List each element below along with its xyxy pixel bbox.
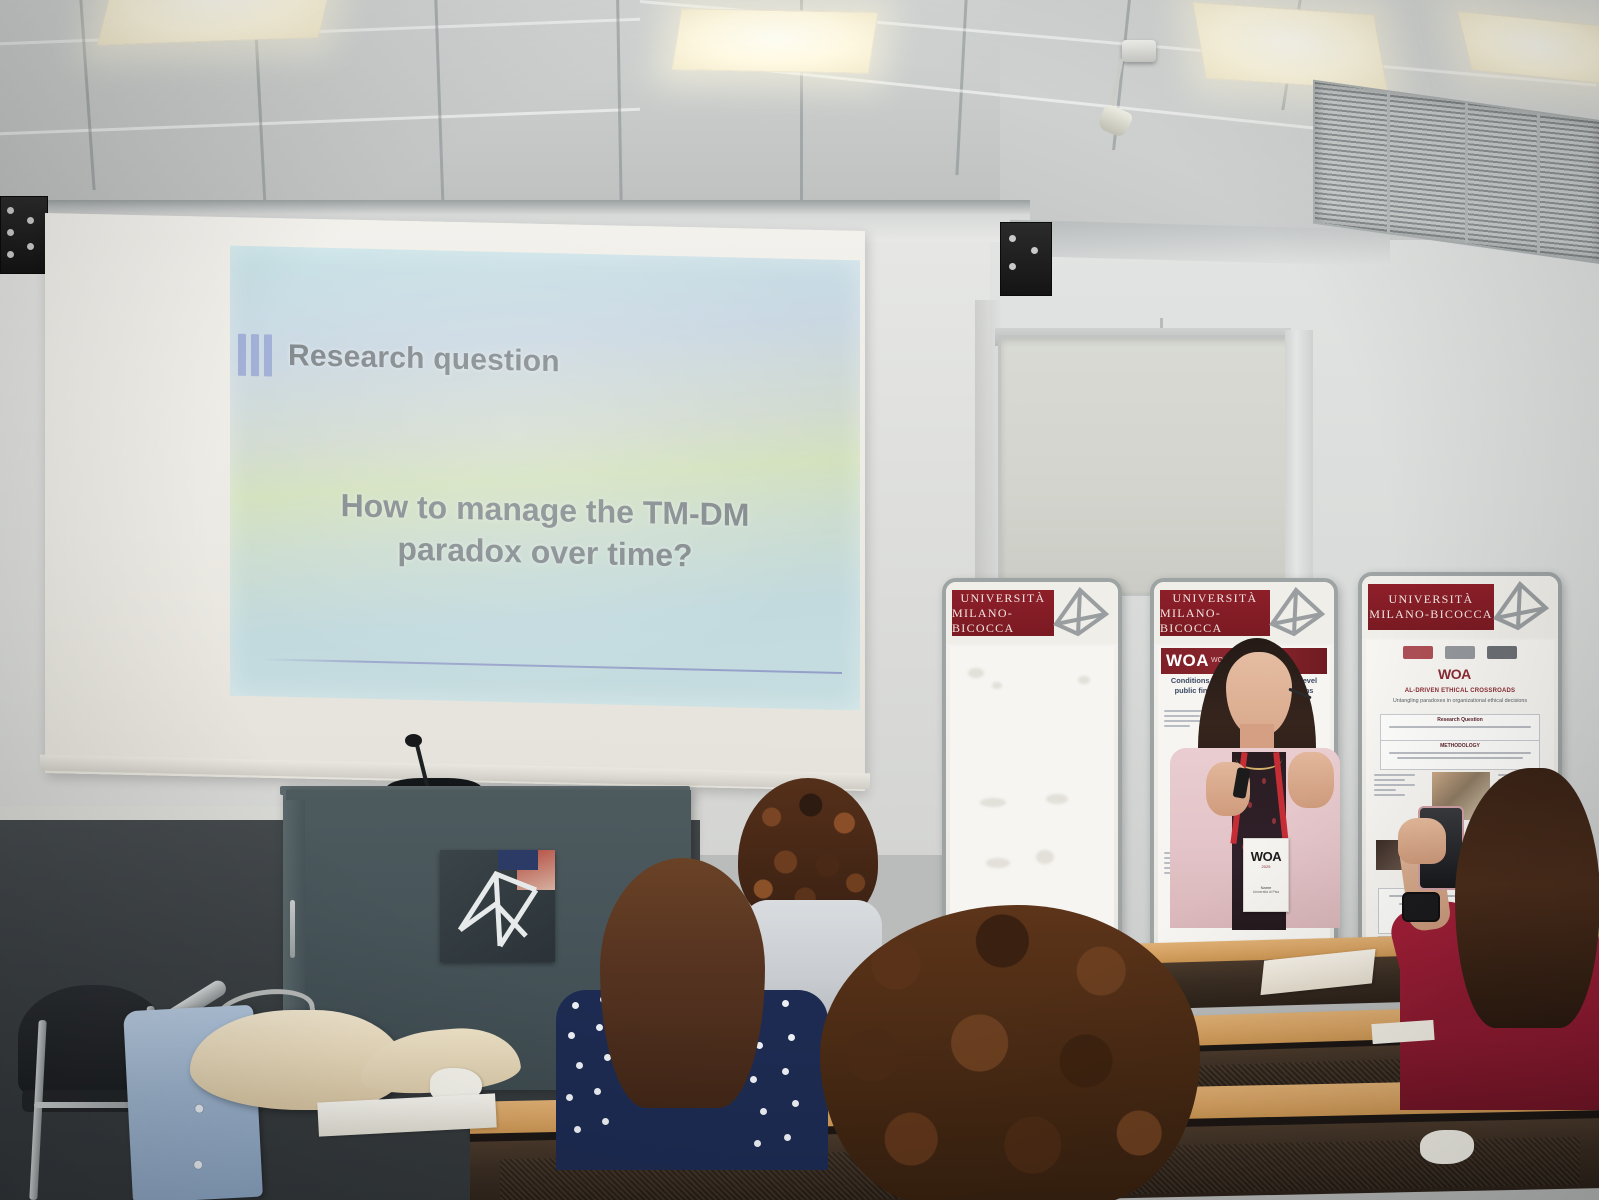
- slide-footer-rule: [260, 658, 842, 674]
- poster-section-method: METHODOLOGY: [1381, 741, 1539, 749]
- bicocca-x-logo-plaque: [440, 850, 555, 962]
- tissue: [1420, 1130, 1474, 1164]
- poster-subtitle: Untangling paradoxes in organizational e…: [1372, 698, 1548, 706]
- poster-method-box: METHODOLOGY: [1380, 740, 1540, 770]
- poster-board-1[interactable]: UNIVERSITÀ MILANO-BICOCCA: [942, 578, 1122, 956]
- screen-mount-bracket: [0, 196, 48, 274]
- poster-section-research: Research Question: [1381, 715, 1539, 723]
- university-line-2: MILANO-BICOCCA: [1369, 607, 1493, 622]
- university-line-1: UNIVERSITÀ: [961, 591, 1046, 606]
- secondary-screen: [998, 335, 1294, 596]
- university-banner: UNIVERSITÀ MILANO-BICOCCA: [1368, 584, 1494, 630]
- university-banner: UNIVERSITÀ MILANO-BICOCCA: [952, 590, 1054, 636]
- university-banner: UNIVERSITÀ MILANO-BICOCCA: [1160, 590, 1270, 636]
- bicocca-x-icon: [440, 850, 555, 962]
- university-line-1: UNIVERSITÀ: [1173, 591, 1258, 606]
- wall-column: [1285, 330, 1313, 600]
- projected-slide: Research question How to manage the TM-D…: [230, 246, 860, 711]
- sponsor-logo-icon: [1487, 646, 1517, 659]
- audience-person-d-hair: [1455, 768, 1599, 1028]
- ceiling-panel-light: [1192, 2, 1388, 92]
- speaker-right-hand: [1288, 752, 1334, 808]
- ceiling-panel-light: [671, 8, 878, 73]
- poster-text-block: [1374, 774, 1424, 799]
- lectern-handle[interactable]: [290, 900, 295, 958]
- slide-accent-bars-icon: [238, 334, 272, 377]
- smartwatch-icon: [1402, 892, 1440, 922]
- audience-person-c-hair: [820, 905, 1200, 1200]
- university-line-1: UNIVERSITÀ: [1389, 592, 1474, 607]
- university-line-2: MILANO-BICOCCA: [1160, 606, 1270, 636]
- badge-woa-text: WOA: [1251, 849, 1282, 864]
- sponsor-logo-icon: [1403, 646, 1433, 659]
- sponsor-logo-row: [1366, 646, 1554, 659]
- badge-year: 2025: [1262, 864, 1271, 869]
- poster-title: AL-DRIVEN ETHICAL CROSSROADS: [1372, 688, 1548, 694]
- badge-affiliation: Università di Pisa: [1253, 890, 1279, 894]
- lecture-hall-photo: Research question How to manage the TM-D…: [0, 0, 1599, 1200]
- microphone-head-icon: [405, 734, 422, 747]
- screen-mount-bracket: [1000, 222, 1052, 296]
- slide-question: How to manage the TM-DM paradox over tim…: [270, 483, 820, 580]
- poster-research-box: Research Question: [1380, 714, 1540, 742]
- slide-heading: Research question: [288, 339, 560, 379]
- audience-person-b-hair: [600, 858, 765, 1108]
- bicocca-logo-icon: [1486, 578, 1556, 636]
- speaker-badge: WOA 2025 Name Università di Pisa: [1243, 838, 1289, 912]
- bicocca-logo-icon: [1262, 584, 1332, 642]
- bicocca-logo-icon: [1046, 584, 1116, 642]
- woa-logo-text: WOA: [1161, 651, 1209, 671]
- whiteboard-surface: [950, 646, 1114, 948]
- university-line-2: MILANO-BICOCCA: [952, 606, 1054, 636]
- woa-logo-text: WOA: [1438, 666, 1471, 682]
- sponsor-logo-icon: [1445, 646, 1475, 659]
- ceiling-sensor-icon: [1122, 40, 1156, 62]
- audience-person-d-hand: [1398, 818, 1446, 864]
